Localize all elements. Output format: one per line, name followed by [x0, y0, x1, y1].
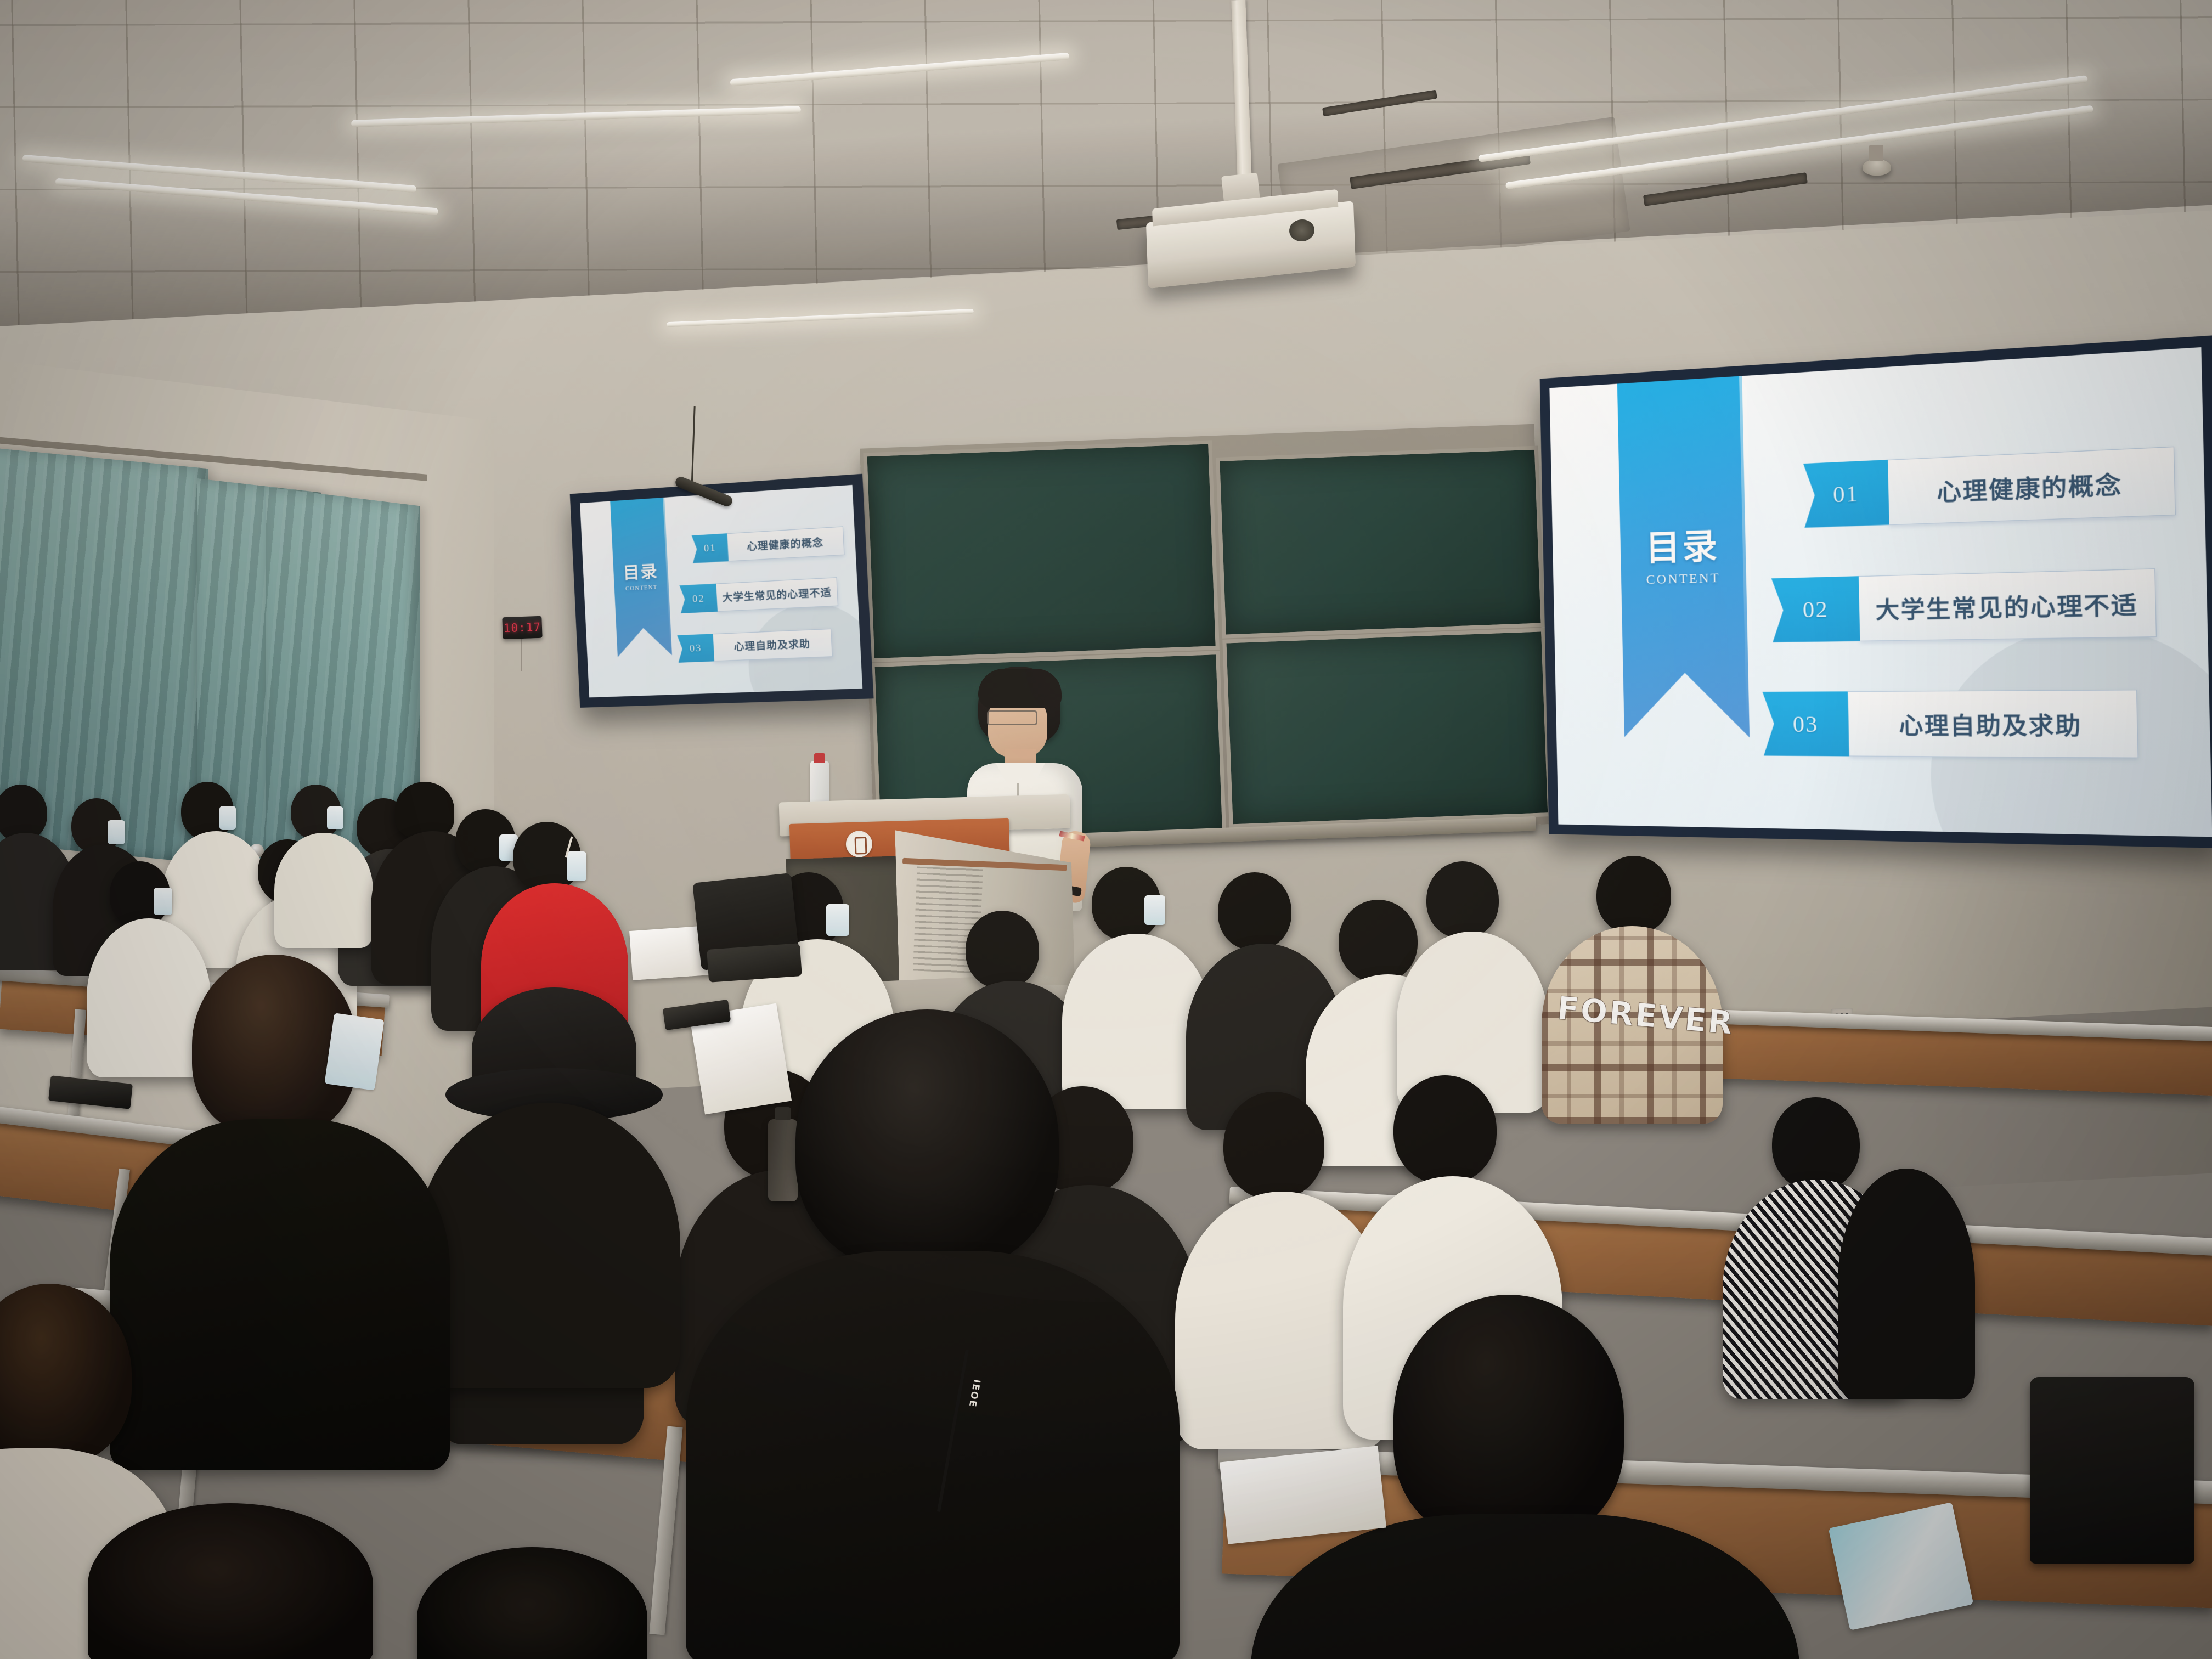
slide-ribbon-text: 目录 CONTENT	[1617, 376, 1750, 737]
torso	[110, 1119, 450, 1470]
face-mask-icon	[219, 806, 236, 830]
head	[88, 1503, 373, 1659]
water-bottle-icon	[768, 1119, 798, 1201]
blackboard-panel	[863, 440, 1220, 662]
main-slide-surface: 目录 CONTENT 01 心理健康的概念 02 大学生常见的心理不适 03 心…	[1549, 347, 2212, 837]
head	[1772, 1097, 1860, 1190]
face-mask-icon	[108, 820, 125, 844]
face-mask-icon	[154, 888, 172, 915]
slide-toc-list: 01 心理健康的概念 02 大学生常见的心理不适 03 心理自助及求助	[1769, 447, 2181, 758]
blackboard-panel	[1222, 628, 1551, 828]
backpack-icon	[2030, 1377, 2194, 1564]
slide-title: 目录	[623, 563, 658, 582]
toc-item: 03 心理自助及求助	[677, 628, 832, 663]
slide-subtitle: CONTENT	[1646, 571, 1720, 588]
folding-chair-seat	[707, 943, 802, 983]
toc-item-label: 心理自助及求助	[1848, 690, 2138, 758]
toc-item-label: 大学生常见的心理不适	[716, 577, 838, 611]
head	[1393, 1075, 1497, 1184]
plaid-shirt-torso	[1542, 926, 1723, 1124]
toc-number-badge: 02	[679, 584, 718, 613]
face-mask-icon	[826, 904, 849, 936]
toc-number-badge: 03	[677, 634, 715, 663]
clock-display: 10:17	[503, 620, 541, 635]
face-mask-icon	[1144, 895, 1165, 925]
toc-number-badge: 01	[1803, 460, 1889, 528]
torso	[274, 833, 373, 948]
torso-overlay-dark	[1838, 1169, 1975, 1399]
toc-item-label: 心理健康的概念	[1888, 447, 2176, 525]
toc-item: 02 大学生常见的心理不适	[679, 577, 838, 613]
toc-item: 03 心理自助及求助	[1763, 690, 2138, 758]
toc-number-badge: 03	[1763, 691, 1849, 756]
slide-ribbon-text: 目录 CONTENT	[610, 498, 672, 657]
toc-item: 01 心理健康的概念	[1803, 447, 2176, 528]
head	[1596, 856, 1671, 934]
head	[1223, 1092, 1324, 1199]
head	[1393, 1295, 1624, 1542]
smoke-detector-icon	[1863, 159, 1891, 176]
toc-item-label: 心理自助及求助	[713, 628, 832, 661]
torso	[686, 1251, 1180, 1659]
torso	[417, 1103, 680, 1388]
toc-item: 02 大学生常见的心理不适	[1771, 568, 2157, 642]
head	[966, 911, 1039, 989]
head	[1426, 861, 1499, 938]
clock-stem	[521, 638, 522, 671]
face-mask-icon	[324, 1013, 384, 1091]
led-wall-clock: 10:17	[502, 616, 542, 639]
head	[417, 1547, 647, 1659]
head	[795, 1009, 1059, 1273]
face-mask-icon	[567, 851, 586, 881]
slide-content-mirror: 目录 CONTENT 01 心理健康的概念 02 大学生常见的心理不适 03 心…	[580, 485, 862, 697]
blackboard-panel	[1216, 445, 1545, 638]
head	[395, 782, 454, 838]
slide-content: 目录 CONTENT 01 心理健康的概念 02 大学生常见的心理不适 03 心…	[1549, 347, 2212, 837]
slide-subtitle: CONTENT	[625, 584, 658, 592]
toc-item-label: 大学生常见的心理不适	[1859, 568, 2157, 641]
bucket-hat-icon	[472, 988, 636, 1114]
head	[1339, 900, 1418, 982]
slide-title: 目录	[1645, 529, 1720, 566]
secondary-slide-surface: 目录 CONTENT 01 心理健康的概念 02 大学生常见的心理不适 03 心…	[580, 485, 862, 697]
water-bottle-icon	[810, 761, 829, 805]
secondary-projection-screen: 目录 CONTENT 01 心理健康的概念 02 大学生常见的心理不适 03 心…	[570, 474, 874, 708]
toc-number-badge: 02	[1771, 576, 1860, 642]
glasses-icon	[987, 710, 1037, 725]
toc-item-label: 心理健康的概念	[727, 526, 844, 561]
slide-toc-list: 01 心理健康的概念 02 大学生常见的心理不适 03 心理自助及求助	[677, 526, 849, 663]
main-projection-screen: 目录 CONTENT 01 心理健康的概念 02 大学生常见的心理不适 03 心…	[1540, 335, 2212, 848]
toc-number-badge: 01	[692, 533, 729, 563]
lecture-hall-photo: 10:17 目录 CONTENT 01 心理健康的概念 02	[0, 0, 2212, 1659]
paper-sheet	[1220, 1446, 1386, 1544]
toc-item: 01 心理健康的概念	[692, 526, 845, 563]
head	[1218, 872, 1291, 950]
presenter-fringe	[978, 669, 1062, 708]
face-mask-icon	[327, 806, 343, 830]
